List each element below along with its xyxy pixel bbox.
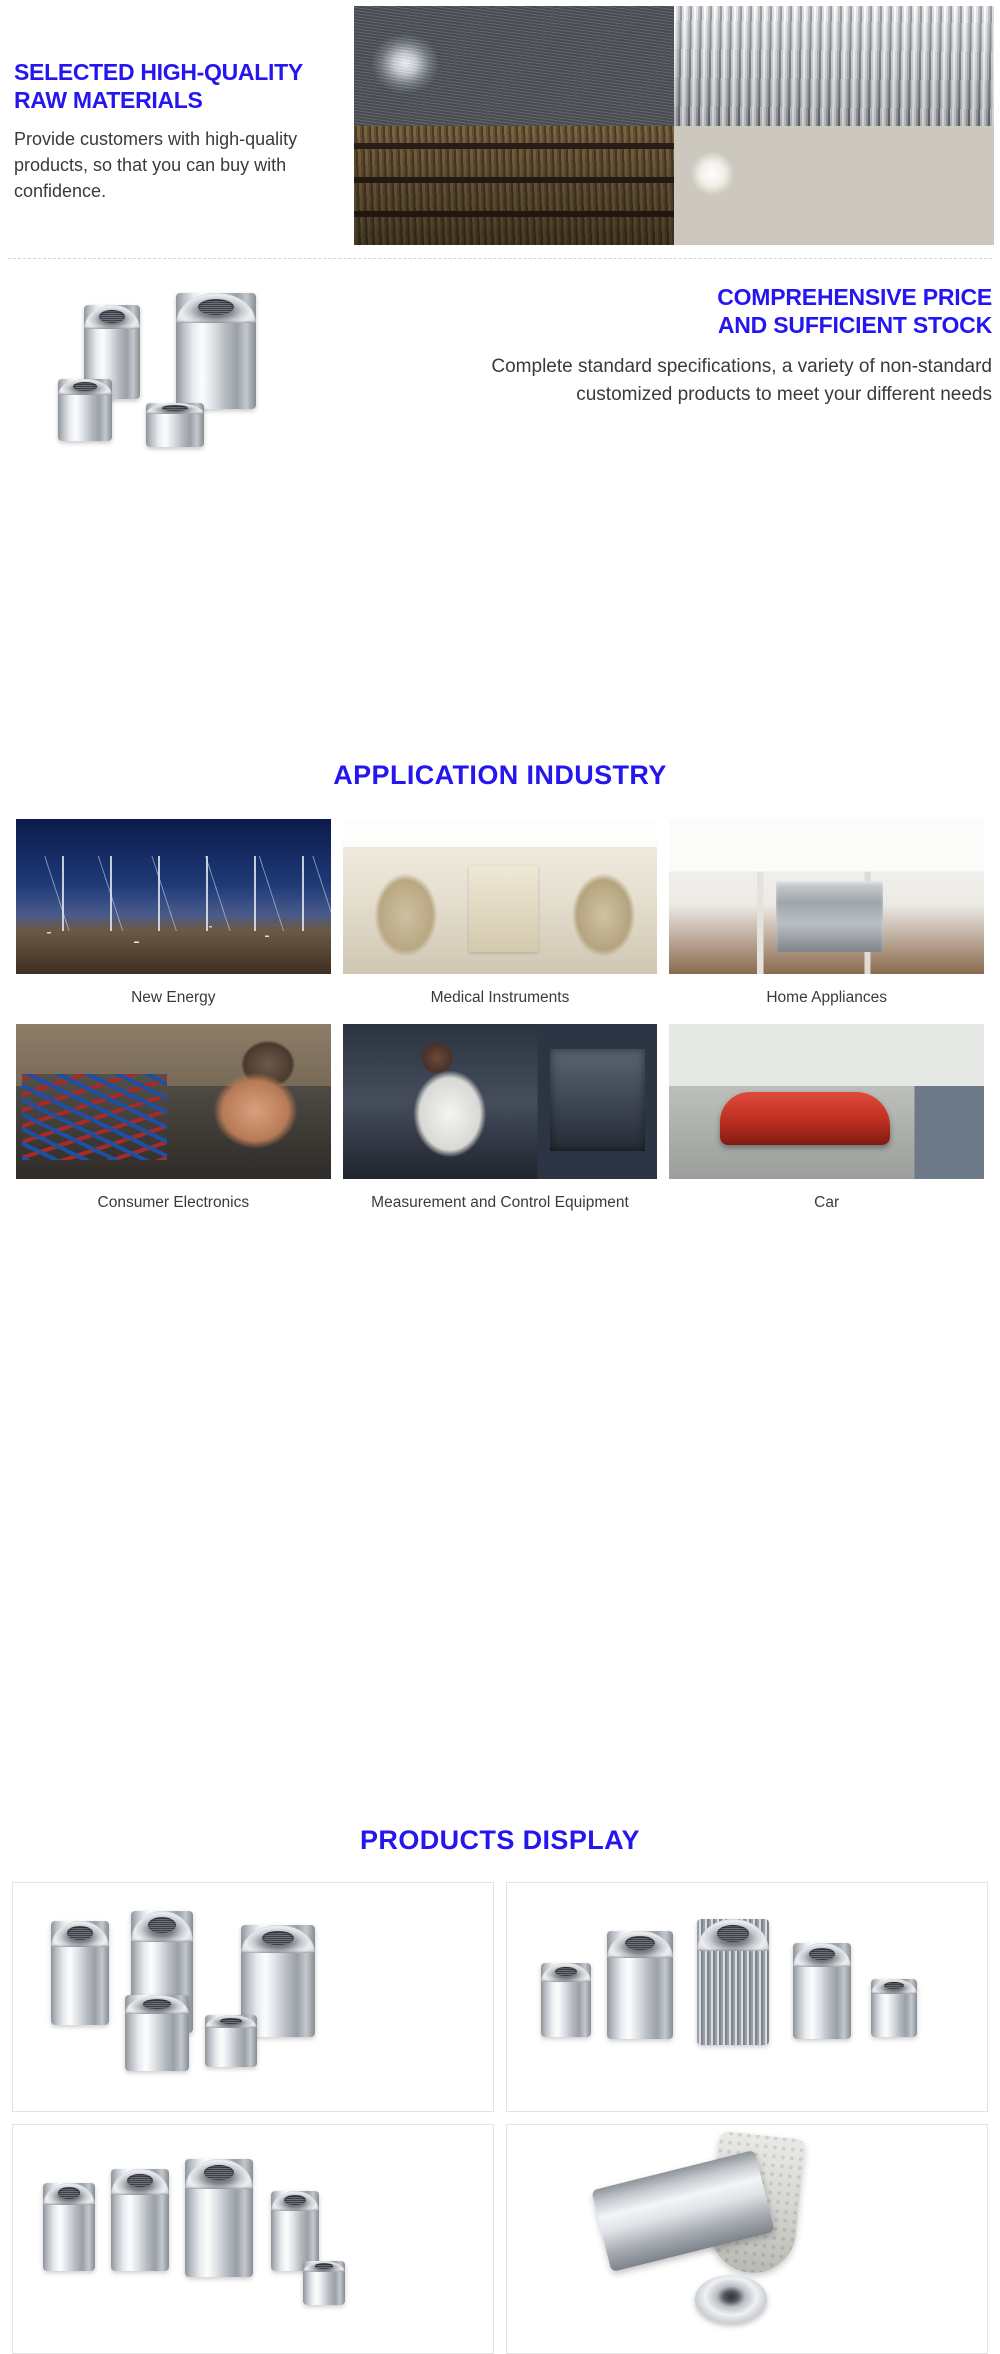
application-item-measurement-control[interactable]: Measurement and Control Equipment xyxy=(343,1024,658,1229)
application-item-consumer-electronics[interactable]: Consumer Electronics xyxy=(16,1024,331,1229)
application-industry-section: APPLICATION INDUSTRY New Energy Medical … xyxy=(0,760,1000,1229)
feature-raw-materials: SELECTED HIGH-QUALITY RAW MATERIALS Prov… xyxy=(0,0,1000,258)
feature-two-title: COMPREHENSIVE PRICE AND SUFFICIENT STOCK xyxy=(412,283,992,339)
standoff-spacer xyxy=(607,1931,673,2039)
standoff-spacer xyxy=(125,1995,189,2071)
application-caption: Car xyxy=(669,1179,984,1229)
nylon-rod-stock-photo xyxy=(674,126,994,246)
standoff-spacer xyxy=(271,2191,319,2271)
application-item-home-appliances[interactable]: Home Appliances xyxy=(669,819,984,1024)
standoff-spacer xyxy=(205,2015,257,2067)
raw-material-photo-grid xyxy=(354,6,994,245)
product-card[interactable] xyxy=(12,1882,494,2112)
application-item-medical-instruments[interactable]: Medical Instruments xyxy=(343,819,658,1024)
feature-two-title-line1: COMPREHENSIVE PRICE xyxy=(412,283,992,311)
products-display-title: PRODUCTS DISPLAY xyxy=(0,1825,1000,1856)
feature-two-title-line2: AND SUFFICIENT STOCK xyxy=(412,311,992,339)
feature-one-title-line1: SELECTED HIGH-QUALITY xyxy=(14,58,354,86)
standoff-spacer xyxy=(871,1979,917,2037)
feature-one-text-block: SELECTED HIGH-QUALITY RAW MATERIALS Prov… xyxy=(14,58,354,204)
application-item-car[interactable]: Car xyxy=(669,1024,984,1229)
feature-price-stock: COMPREHENSIVE PRICE AND SUFFICIENT STOCK… xyxy=(0,259,1000,529)
application-industry-grid: New Energy Medical Instruments Home Appl… xyxy=(0,819,1000,1229)
products-display-grid xyxy=(0,1882,1000,2354)
knurled-standoff-spacer xyxy=(697,1919,769,2045)
spacer-nut xyxy=(58,379,112,441)
feature-one-title-line2: RAW MATERIALS xyxy=(14,86,354,114)
kitchen-appliances-image xyxy=(669,819,984,974)
steel-bar-bundles-photo xyxy=(674,6,994,126)
warehouse-rod-racks-photo xyxy=(354,126,674,246)
products-display-section: PRODUCTS DISPLAY xyxy=(0,1825,1000,2354)
wind-turbines-image xyxy=(16,819,331,974)
application-caption: Consumer Electronics xyxy=(16,1179,331,1229)
standoff-spacer xyxy=(303,2261,345,2305)
application-caption: Medical Instruments xyxy=(343,974,658,1024)
application-caption: New Energy xyxy=(16,974,331,1024)
standoff-spacer-nuts-photo xyxy=(40,279,340,494)
standoff-spacer xyxy=(43,2183,95,2271)
application-industry-title: APPLICATION INDUSTRY xyxy=(0,760,1000,791)
product-card[interactable] xyxy=(12,2124,494,2354)
feature-two-body: Complete standard specifications, a vari… xyxy=(412,353,992,409)
standoff-spacer xyxy=(185,2159,253,2277)
feature-two-text-block: COMPREHENSIVE PRICE AND SUFFICIENT STOCK… xyxy=(412,283,992,409)
application-caption: Measurement and Control Equipment xyxy=(343,1179,658,1229)
steel-wire-coils-photo xyxy=(354,6,674,126)
application-item-new-energy[interactable]: New Energy xyxy=(16,819,331,1024)
electronics-technician-image xyxy=(16,1024,331,1179)
threaded-washer xyxy=(695,2275,767,2323)
measurement-lab-image xyxy=(343,1024,658,1179)
feature-one-title: SELECTED HIGH-QUALITY RAW MATERIALS xyxy=(14,58,354,114)
application-caption: Home Appliances xyxy=(669,974,984,1024)
feature-one-body: Provide customers with high-quality prod… xyxy=(14,126,354,204)
car-garage-image xyxy=(669,1024,984,1179)
standoff-spacer xyxy=(111,2169,169,2271)
standoff-spacer xyxy=(541,1963,591,2037)
dental-clinic-image xyxy=(343,819,658,974)
standoff-spacer xyxy=(793,1943,851,2039)
product-card[interactable] xyxy=(506,1882,988,2112)
spacer-nut xyxy=(176,293,256,409)
standoff-spacer xyxy=(51,1921,109,2025)
spacer-nut xyxy=(146,403,204,447)
product-card[interactable] xyxy=(506,2124,988,2354)
